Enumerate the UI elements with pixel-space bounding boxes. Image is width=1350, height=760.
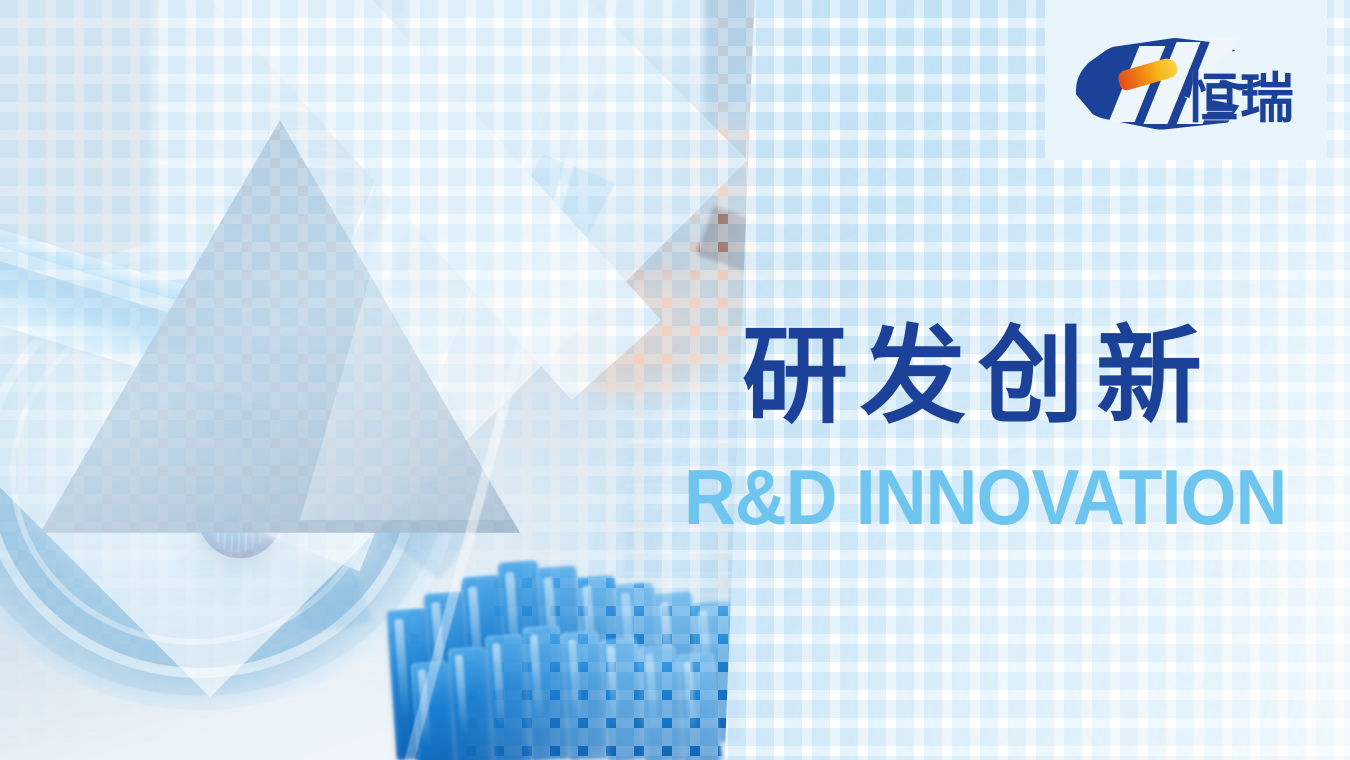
headline-chinese: 研发创新 [742, 322, 1350, 432]
headline-english: R&D INNOVATION [684, 458, 1300, 536]
rd-innovation-banner: 恒瑞 研发创新 R&D INNOVATION [0, 0, 1350, 760]
brand-name-cn: 恒瑞 [1184, 72, 1296, 126]
brand-logo[interactable]: 恒瑞 [1066, 20, 1306, 140]
brand-logo-panel[interactable]: 恒瑞 [1045, 0, 1327, 160]
